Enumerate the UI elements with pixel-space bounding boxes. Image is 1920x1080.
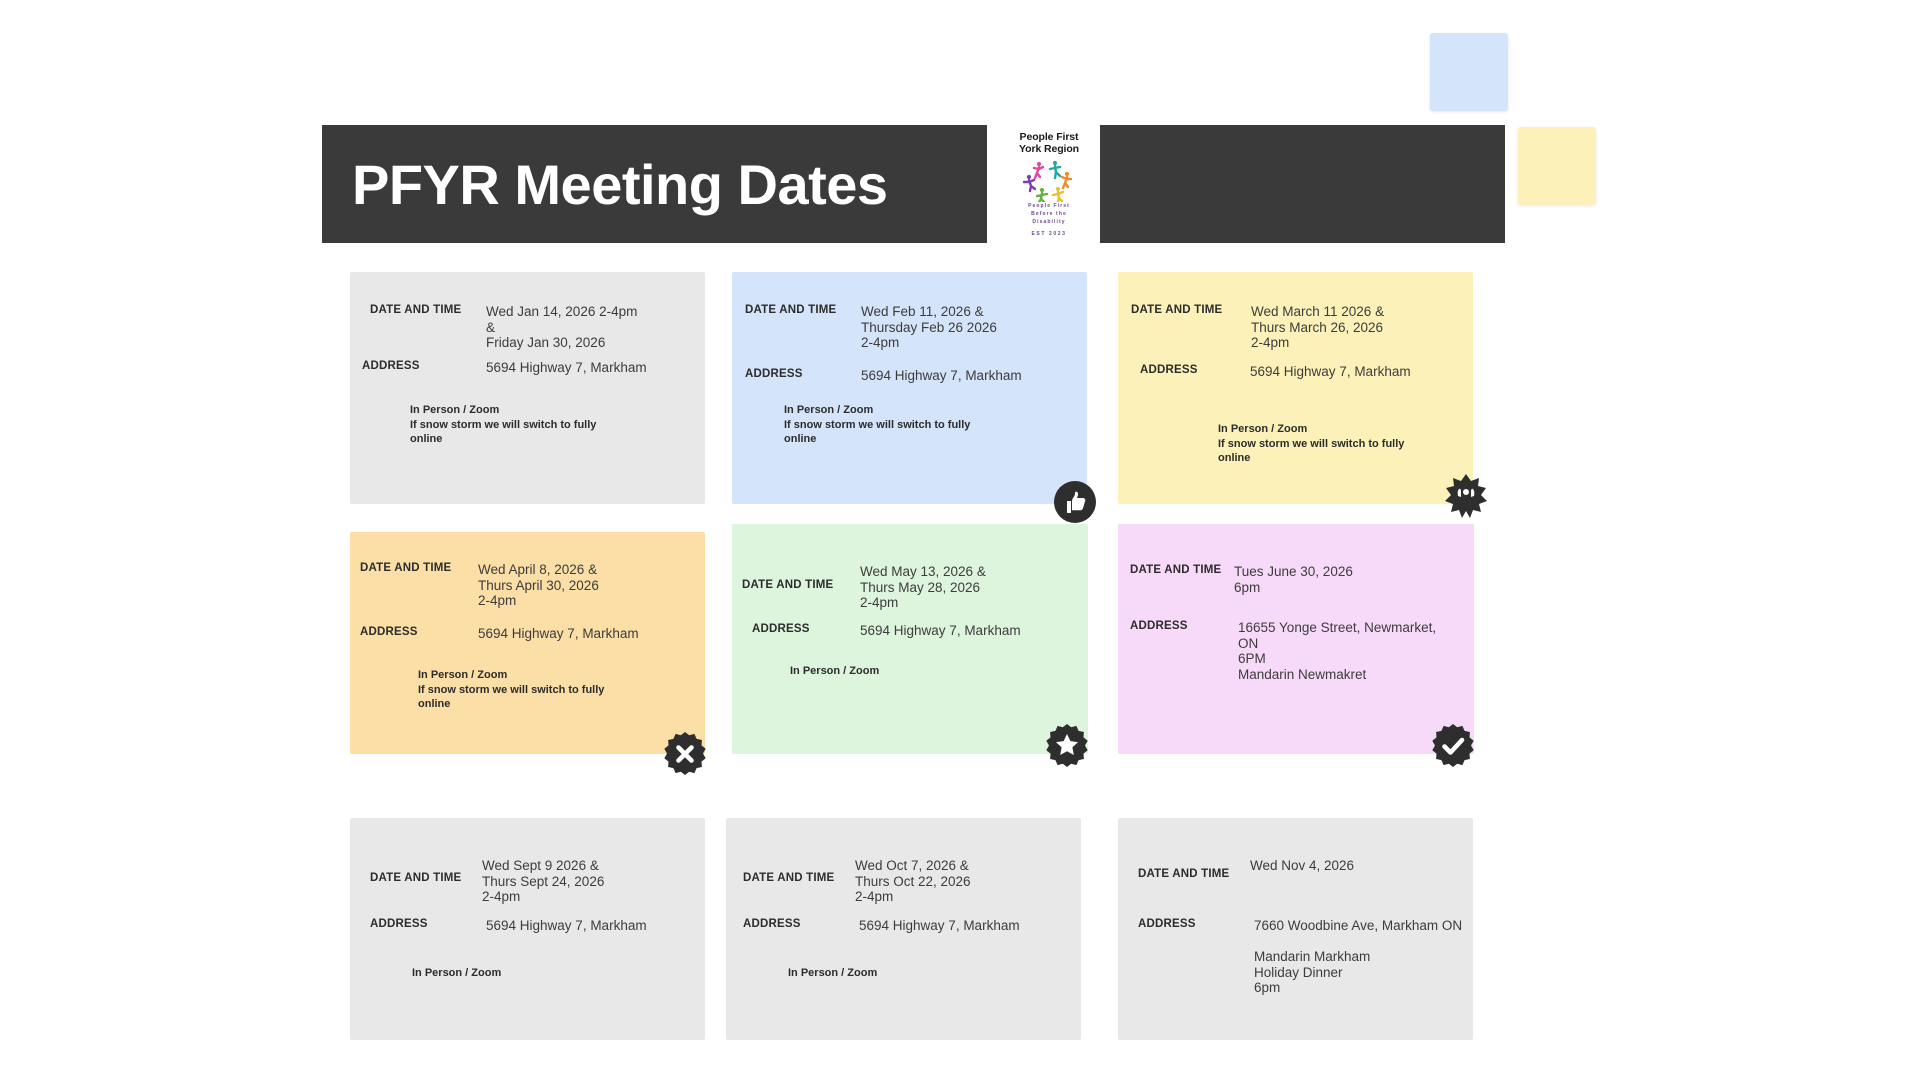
sticky-note-blue[interactable] [1430, 33, 1508, 111]
check-badge-icon[interactable] [1430, 723, 1476, 769]
card-september-address-value: 5694 Highway 7, Markham [486, 918, 647, 934]
card-march-address-value: 5694 Highway 7, Markham [1250, 364, 1411, 380]
card-april-address-value: 5694 Highway 7, Markham [478, 626, 639, 642]
card-october-note: In Person / Zoom [788, 966, 877, 981]
page-title: PFYR Meeting Dates [322, 152, 888, 217]
celebration-icon[interactable] [1440, 472, 1492, 524]
card-september-date-label: DATE AND TIME [370, 872, 474, 884]
card-january-address-value: 5694 Highway 7, Markham [486, 360, 647, 376]
header-banner-right [1100, 125, 1505, 243]
card-january-date-value: Wed Jan 14, 2026 2-4pm & Friday Jan 30, … [486, 304, 637, 351]
meeting-card-october[interactable]: DATE AND TIME Wed Oct 7, 2026 & Thurs Oc… [726, 818, 1081, 1040]
card-april-date-label: DATE AND TIME [360, 562, 470, 574]
organization-logo: People First York Region [1006, 127, 1092, 240]
card-march-address-label: ADDRESS [1140, 364, 1240, 376]
card-march-date-label: DATE AND TIME [1131, 304, 1241, 316]
card-january-note: In Person / Zoom If snow storm we will s… [410, 403, 596, 447]
card-october-date-value: Wed Oct 7, 2026 & Thurs Oct 22, 2026 2-4… [855, 858, 971, 905]
card-april-address-label: ADDRESS [360, 626, 470, 638]
card-june-date-value: Tues June 30, 2026 6pm [1234, 564, 1353, 595]
card-september-note: In Person / Zoom [412, 966, 501, 981]
logo-established: EST 2023 [1031, 231, 1066, 237]
x-badge-icon[interactable] [662, 731, 708, 777]
logo-name-line2: York Region [1019, 143, 1079, 155]
meeting-card-january[interactable]: DATE AND TIME Wed Jan 14, 2026 2-4pm & F… [350, 272, 705, 504]
card-may-date-label: DATE AND TIME [742, 579, 852, 591]
meeting-card-june[interactable]: DATE AND TIME Tues June 30, 2026 6pm ADD… [1118, 524, 1474, 754]
card-april-note: In Person / Zoom If snow storm we will s… [418, 668, 604, 712]
meeting-card-november[interactable]: DATE AND TIME Wed Nov 4, 2026 ADDRESS 76… [1118, 818, 1473, 1040]
card-november-date-value: Wed Nov 4, 2026 [1250, 858, 1354, 874]
card-february-address-label: ADDRESS [745, 368, 855, 380]
card-september-address-label: ADDRESS [370, 918, 474, 930]
logo-tagline-line3: Disability [1032, 219, 1065, 226]
card-october-address-value: 5694 Highway 7, Markham [859, 918, 1020, 934]
sticky-note-yellow[interactable] [1518, 127, 1596, 205]
card-february-date-label: DATE AND TIME [745, 304, 855, 316]
card-october-date-label: DATE AND TIME [743, 872, 847, 884]
card-june-address-label: ADDRESS [1130, 620, 1226, 632]
card-february-date-value: Wed Feb 11, 2026 & Thursday Feb 26 2026 … [861, 304, 997, 351]
header-banner-left: PFYR Meeting Dates [322, 125, 987, 243]
card-february-note: In Person / Zoom If snow storm we will s… [784, 403, 970, 447]
card-june-date-label: DATE AND TIME [1130, 564, 1226, 576]
card-september-date-value: Wed Sept 9 2026 & Thurs Sept 24, 2026 2-… [482, 858, 604, 905]
card-may-note: In Person / Zoom [790, 664, 879, 679]
card-november-address-label: ADDRESS [1138, 918, 1242, 930]
card-march-date-value: Wed March 11 2026 & Thurs March 26, 2026… [1251, 304, 1384, 351]
thumbs-up-icon[interactable] [1052, 479, 1098, 525]
card-may-date-value: Wed May 13, 2026 & Thurs May 28, 2026 2-… [860, 564, 986, 611]
card-november-date-label: DATE AND TIME [1138, 868, 1242, 880]
card-april-date-value: Wed April 8, 2026 & Thurs April 30, 2026… [478, 562, 599, 609]
card-november-address-value: 7660 Woodbine Ave, Markham ON Mandarin M… [1254, 918, 1462, 996]
meeting-card-september[interactable]: DATE AND TIME Wed Sept 9 2026 & Thurs Se… [350, 818, 705, 1040]
logo-tagline-line2: Before the [1031, 211, 1067, 218]
card-may-address-value: 5694 Highway 7, Markham [860, 623, 1021, 639]
card-october-address-label: ADDRESS [743, 918, 847, 930]
meeting-card-february[interactable]: DATE AND TIME Wed Feb 11, 2026 & Thursda… [732, 272, 1087, 504]
card-february-address-value: 5694 Highway 7, Markham [861, 368, 1022, 384]
meeting-card-may[interactable]: DATE AND TIME Wed May 13, 2026 & Thurs M… [732, 524, 1088, 754]
card-june-address-value: 16655 Yonge Street, Newmarket, ON 6PM Ma… [1238, 620, 1436, 682]
card-march-note: In Person / Zoom If snow storm we will s… [1218, 422, 1404, 466]
card-may-address-label: ADDRESS [752, 623, 852, 635]
logo-name-line1: People First [1020, 131, 1079, 143]
whiteboard-canvas: PFYR Meeting Dates People First York Reg… [0, 0, 1920, 1080]
meeting-card-april[interactable]: DATE AND TIME Wed April 8, 2026 & Thurs … [350, 532, 705, 754]
star-badge-icon[interactable] [1044, 723, 1090, 769]
logo-people-figures-icon [1018, 156, 1080, 202]
logo-tagline-line1: People First [1028, 203, 1070, 210]
card-january-date-label: DATE AND TIME [370, 304, 480, 316]
meeting-card-march[interactable]: DATE AND TIME Wed March 11 2026 & Thurs … [1118, 272, 1473, 504]
card-january-address-label: ADDRESS [362, 360, 480, 372]
